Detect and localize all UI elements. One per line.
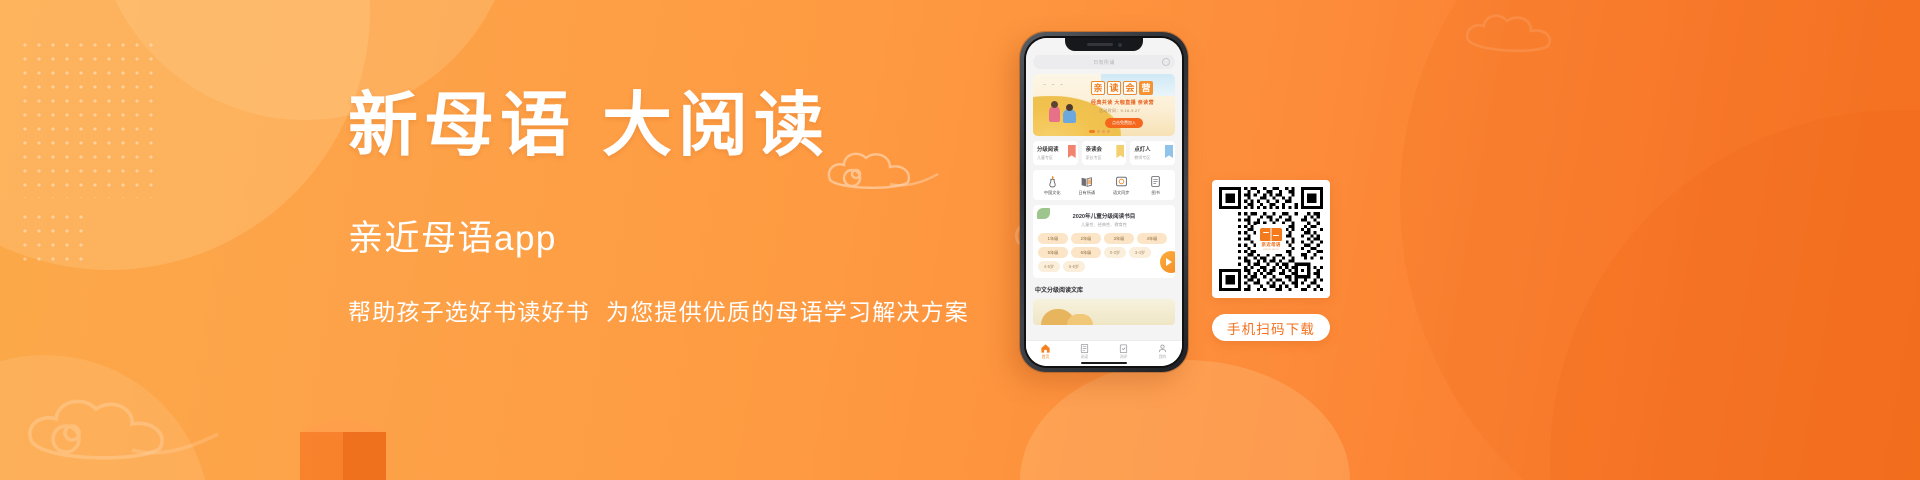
hero-date: 活动时间：9.16-9.27 [1099, 108, 1140, 114]
carousel-dots[interactable] [1089, 130, 1110, 133]
download-button[interactable]: 手机扫码下载 [1212, 314, 1330, 341]
illustration-child-2-head [1066, 104, 1073, 111]
decorative-glow-under-phone [1020, 360, 1350, 480]
grade-chip[interactable]: 3年级 [1104, 233, 1134, 244]
speaker-grille [1087, 43, 1113, 46]
app-name-label: 亲近母语app [348, 210, 1048, 261]
age-chip[interactable]: 3-4岁 [1129, 247, 1151, 258]
app-content: 日有所诵 ⋯ ∼ ∼ ∼ 亲 读 [1026, 38, 1182, 366]
decorative-circle-right [1400, 0, 1920, 480]
tab-home[interactable]: 首页 [1026, 343, 1065, 360]
hill-decoration-2 [1067, 314, 1093, 325]
headline-part-2: 大阅读 [602, 88, 830, 165]
library-card[interactable] [1033, 299, 1175, 325]
quick-link-label: 中国文化 [1035, 190, 1070, 196]
book-list-icon [1149, 175, 1162, 188]
grade-chip[interactable]: 1年级 [1038, 233, 1068, 244]
grade-chip[interactable]: 5年级 [1038, 247, 1068, 258]
phone-screen: 日有所诵 ⋯ ∼ ∼ ∼ 亲 读 [1026, 38, 1182, 366]
hero-title-char-0: 亲 [1091, 81, 1105, 95]
headline-part-1: 新母语 [348, 88, 576, 165]
leaf-decoration-icon [1037, 208, 1050, 219]
phone-bezel: 日有所诵 ⋯ ∼ ∼ ∼ 亲 读 [1024, 36, 1184, 368]
brand-pinyin: QINJIN MUYU [1263, 248, 1279, 251]
birds-icon: ∼ ∼ ∼ [1043, 82, 1065, 87]
qr-center-logo: 亲近母语 QINJIN MUYU [1256, 224, 1286, 254]
decorative-circle-bottom-left [0, 355, 210, 480]
booklist-subtitle: 儿童性、经典性、教育性 [1038, 222, 1170, 228]
tagline-part-2: 为您提供优质的母语学习解决方案 [606, 299, 969, 325]
hero-subtitle: 经典共读 大咖直播 亲读营 [1091, 99, 1154, 106]
more-dots-icon[interactable]: ⋯ [1162, 58, 1170, 66]
section-title: 中文分级阅读文库 [1033, 283, 1175, 294]
cloud-ornament-icon [1460, 6, 1580, 58]
page-title: 新母语大阅读 [348, 92, 1048, 162]
age-chip[interactable]: 0-3岁 [1104, 247, 1126, 258]
illustration-child-1-head [1051, 101, 1058, 108]
tab-reading[interactable]: 阅读 [1065, 343, 1104, 360]
phone-notch [1065, 38, 1143, 51]
hero-title-char-3: 营 [1139, 81, 1153, 95]
decorative-dot-grid-2 [18, 210, 90, 266]
zone-card-teacher[interactable]: 点灯人 教师专区 [1130, 141, 1175, 165]
tab-label: 测评 [1104, 355, 1143, 360]
qr-download-block: 亲近母语 QINJIN MUYU 手机扫码下载 [1210, 180, 1332, 341]
hero-title-char-2: 会 [1123, 81, 1137, 95]
banner-tagline: 帮助孩子选好书读好书为您提供优质的母语学习解决方案 [348, 293, 1048, 327]
zone-card-parent-club[interactable]: 亲读会 家长专区 [1082, 141, 1127, 165]
quick-link-chinese-sync[interactable]: 语文同步 [1104, 175, 1139, 196]
grade-chip[interactable]: 2年级 [1071, 233, 1101, 244]
clipboard-check-icon [1118, 343, 1129, 354]
decorative-cube [300, 418, 386, 480]
tab-label: 阅读 [1065, 355, 1104, 360]
book-logo-icon [1260, 228, 1282, 241]
home-indicator [1081, 362, 1127, 364]
quick-links-row: 中国文化 日有所诵 [1033, 170, 1175, 200]
quick-link-label: 语文同步 [1104, 190, 1139, 196]
camera-frame-icon [1115, 175, 1128, 188]
grade-chip[interactable]: 6年级 [1071, 247, 1101, 258]
brand-name: 亲近母语 [1261, 242, 1280, 248]
hero-join-button[interactable]: 点击免费加入 [1105, 118, 1143, 128]
open-book-icon [1080, 175, 1093, 188]
qr-code-card[interactable]: 亲近母语 QINJIN MUYU [1212, 180, 1330, 298]
tab-label: 首页 [1026, 355, 1065, 360]
illustration-child-1 [1049, 106, 1060, 122]
grade-chip-group: 1年级 2年级 3年级 4年级 5年级 6年级 0-3岁 3-4岁 4-5岁 5… [1038, 233, 1170, 272]
booklist-title: 2020年儿童分级阅读书目 [1038, 212, 1170, 220]
quick-link-label: 日有所诵 [1070, 190, 1105, 196]
user-icon [1157, 343, 1168, 354]
decorative-circle-top-left [0, 0, 370, 270]
age-chip[interactable]: 4-5岁 [1038, 261, 1060, 272]
grade-chip[interactable]: 4年级 [1137, 233, 1167, 244]
vase-icon [1046, 175, 1059, 188]
phone-mockup: 日有所诵 ⋯ ∼ ∼ ∼ 亲 读 [1020, 32, 1188, 372]
zone-card-graded-reading[interactable]: 分级阅读 儿童专区 [1033, 141, 1078, 165]
promo-banner: 新母语大阅读 亲近母语app 帮助孩子选好书读好书为您提供优质的母语学习解决方案… [0, 0, 1920, 480]
cloud-ornament-icon [20, 384, 220, 470]
tagline-part-1: 帮助孩子选好书读好书 [348, 299, 590, 325]
quick-link-label: 图书 [1139, 190, 1174, 196]
illustration-child-2 [1063, 109, 1076, 123]
hero-title-char-1: 读 [1107, 81, 1121, 95]
search-placeholder: 日有所诵 [1093, 59, 1115, 66]
front-camera-icon [1118, 43, 1122, 47]
document-icon [1079, 343, 1090, 354]
decorative-circle-bottom-right [1550, 110, 1920, 480]
age-chip[interactable]: 5-6岁 [1063, 261, 1085, 272]
quick-link-chinese-culture[interactable]: 中国文化 [1035, 175, 1070, 196]
hero-title: 亲 读 会 营 [1091, 81, 1153, 95]
tab-label: 我的 [1143, 355, 1182, 360]
quick-link-daily-recitation[interactable]: 日有所诵 [1070, 175, 1105, 196]
banner-copy: 新母语大阅读 亲近母语app 帮助孩子选好书读好书为您提供优质的母语学习解决方案 [348, 92, 1048, 327]
app-hero-banner[interactable]: ∼ ∼ ∼ 亲 读 会 营 经典共读 大咖直播 亲读营 活动时间：9.16-9 [1033, 74, 1175, 136]
tab-profile[interactable]: 我的 [1143, 343, 1182, 360]
decorative-dot-grid [18, 38, 158, 198]
search-input[interactable]: 日有所诵 ⋯ [1033, 55, 1175, 69]
play-button-icon[interactable] [1160, 251, 1175, 273]
home-icon [1040, 343, 1051, 354]
zone-cards: 分级阅读 儿童专区 亲读会 家长专区 点灯人 教师专区 [1033, 141, 1175, 165]
booklist-card: 2020年儿童分级阅读书目 儿童性、经典性、教育性 1年级 2年级 3年级 4年… [1033, 205, 1175, 278]
tab-assessment[interactable]: 测评 [1104, 343, 1143, 360]
quick-link-books[interactable]: 图书 [1139, 175, 1174, 196]
